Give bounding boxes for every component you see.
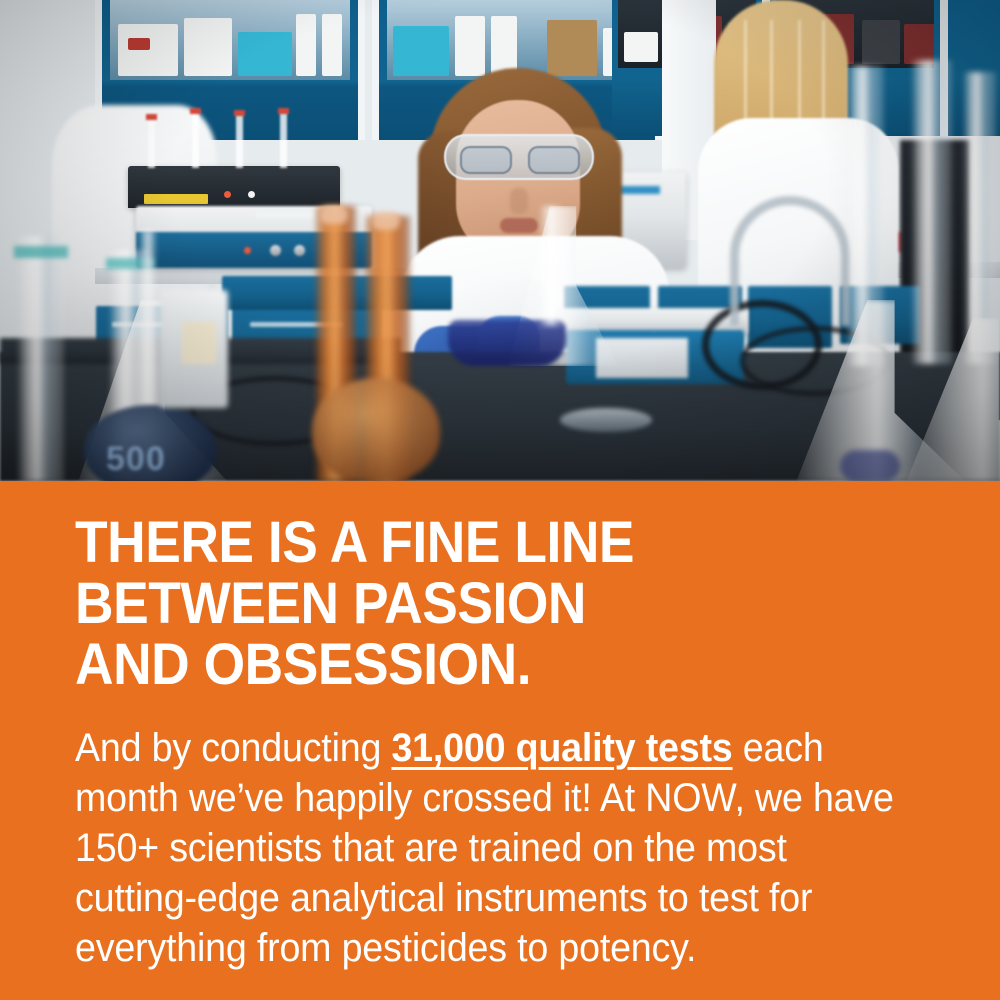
column-stopper bbox=[372, 212, 400, 230]
shelf-box bbox=[184, 18, 232, 76]
shelf-box bbox=[322, 14, 342, 76]
lab-faucet-hose bbox=[730, 196, 850, 326]
column-stopper bbox=[320, 206, 348, 224]
shelf-box bbox=[238, 32, 292, 76]
indicator-led bbox=[224, 191, 231, 198]
instrument-knob bbox=[294, 245, 305, 256]
test-tube bbox=[192, 112, 199, 168]
test-tube bbox=[148, 118, 155, 168]
scientist-center-nose bbox=[510, 188, 528, 214]
goggle-lens-right bbox=[528, 146, 580, 174]
scientist-center-mouth bbox=[500, 218, 538, 233]
lab-instrument-rack bbox=[128, 166, 340, 208]
instrument-label-strip bbox=[144, 194, 208, 204]
tube-cap bbox=[190, 108, 201, 114]
flask-blue-liquid bbox=[448, 320, 566, 366]
bench-label bbox=[182, 322, 216, 364]
shelf-box bbox=[118, 24, 178, 76]
shelf-box bbox=[491, 16, 517, 76]
flask-volume-label: 500 bbox=[106, 440, 166, 479]
shelf-box bbox=[296, 14, 316, 76]
poster-root: 500 THERE IS A FINE LINE BETWEEN PASSION… bbox=[0, 0, 1000, 1000]
cylinder-cap bbox=[14, 246, 68, 258]
instrument-knob bbox=[270, 245, 281, 256]
test-tube bbox=[236, 114, 243, 168]
flask-contents bbox=[840, 450, 900, 481]
stat-quality-tests: 31,000 quality tests bbox=[391, 726, 732, 770]
tube-cap bbox=[234, 110, 245, 116]
lab-photo: 500 bbox=[0, 0, 1000, 481]
indicator-led bbox=[248, 191, 255, 198]
petri-dish bbox=[560, 408, 652, 432]
volumetric-flask-neck bbox=[912, 60, 952, 364]
goggle-lens-left bbox=[460, 146, 512, 174]
body-copy-before: And by conducting bbox=[75, 726, 391, 770]
flask-neck bbox=[540, 206, 562, 326]
indicator-led bbox=[244, 247, 251, 254]
shelf-box bbox=[624, 32, 658, 62]
instrument-display bbox=[256, 212, 314, 218]
page-title: THERE IS A FINE LINE BETWEEN PASSION AND… bbox=[75, 512, 885, 695]
safety-goggles bbox=[444, 134, 594, 180]
body-copy: And by conducting 31,000 quality tests e… bbox=[75, 723, 912, 973]
cabinet-glass-pane bbox=[110, 0, 350, 80]
graduated-cylinder bbox=[18, 236, 64, 481]
shelf-box bbox=[455, 16, 485, 76]
tube-cap bbox=[146, 114, 157, 120]
tube-cap bbox=[278, 108, 289, 114]
amber-flask-bulb bbox=[312, 378, 440, 481]
test-tube bbox=[280, 112, 287, 168]
shelf-box bbox=[128, 38, 150, 50]
